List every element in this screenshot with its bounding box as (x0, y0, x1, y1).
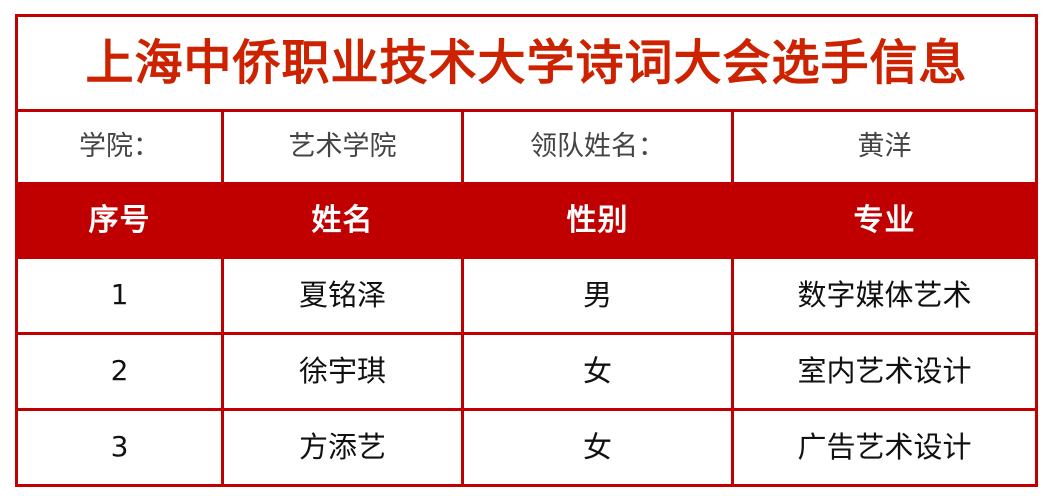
cell-gender: 女 (463, 410, 733, 486)
row-major-value: 广告艺术设计 (734, 432, 1035, 464)
cell-no: 3 (17, 410, 223, 486)
meta-row: 学院： 艺术学院 领队姓名： 黄洋 (17, 111, 1037, 184)
contestant-info-table: 上海中侨职业技术大学诗词大会选手信息 学院： 艺术学院 领队姓名： 黄洋 (15, 14, 1038, 487)
row-gender-value: 女 (464, 356, 731, 388)
cell-gender: 男 (463, 258, 733, 334)
row-name-value: 方添艺 (224, 432, 461, 464)
college-label: 学院： (18, 132, 221, 162)
row-no-value: 1 (18, 280, 221, 311)
leader-value-cell: 黄洋 (733, 111, 1037, 184)
row-gender-value: 女 (464, 432, 731, 464)
row-name-value: 徐宇琪 (224, 356, 461, 388)
leader-label-cell: 领队姓名： (463, 111, 733, 184)
cell-name: 夏铭泽 (223, 258, 463, 334)
column-header-no: 序号 (17, 184, 223, 258)
cell-major: 室内艺术设计 (733, 334, 1037, 410)
college-value-cell: 艺术学院 (223, 111, 463, 184)
leader-label: 领队姓名： (464, 132, 731, 162)
column-header-name: 姓名 (223, 184, 463, 258)
college-label-cell: 学院： (17, 111, 223, 184)
cell-major: 广告艺术设计 (733, 410, 1037, 486)
cell-no: 1 (17, 258, 223, 334)
column-header-name-label: 姓名 (224, 204, 461, 237)
page-title-cell: 上海中侨职业技术大学诗词大会选手信息 (17, 16, 1037, 111)
college-value: 艺术学院 (224, 132, 461, 162)
column-header-gender-label: 性别 (464, 204, 731, 237)
table-row: 1 夏铭泽 男 数字媒体艺术 (17, 258, 1037, 334)
cell-major: 数字媒体艺术 (733, 258, 1037, 334)
cell-no: 2 (17, 334, 223, 410)
leader-value: 黄洋 (734, 132, 1035, 162)
column-header-major-label: 专业 (734, 204, 1035, 237)
column-header-major: 专业 (733, 184, 1037, 258)
title-row: 上海中侨职业技术大学诗词大会选手信息 (17, 16, 1037, 111)
page-title: 上海中侨职业技术大学诗词大会选手信息 (18, 38, 1035, 88)
column-header-gender: 性别 (463, 184, 733, 258)
cell-name: 徐宇琪 (223, 334, 463, 410)
table-header-row: 序号 姓名 性别 专业 (17, 184, 1037, 258)
cell-name: 方添艺 (223, 410, 463, 486)
column-header-no-label: 序号 (18, 204, 221, 237)
row-gender-value: 男 (464, 280, 731, 312)
row-name-value: 夏铭泽 (224, 280, 461, 312)
table-row: 2 徐宇琪 女 室内艺术设计 (17, 334, 1037, 410)
table-row: 3 方添艺 女 广告艺术设计 (17, 410, 1037, 486)
row-no-value: 2 (18, 356, 221, 387)
row-major-value: 室内艺术设计 (734, 356, 1035, 388)
row-major-value: 数字媒体艺术 (734, 280, 1035, 312)
cell-gender: 女 (463, 334, 733, 410)
document-sheet: 上海中侨职业技术大学诗词大会选手信息 学院： 艺术学院 领队姓名： 黄洋 (0, 0, 1054, 496)
row-no-value: 3 (18, 432, 221, 463)
